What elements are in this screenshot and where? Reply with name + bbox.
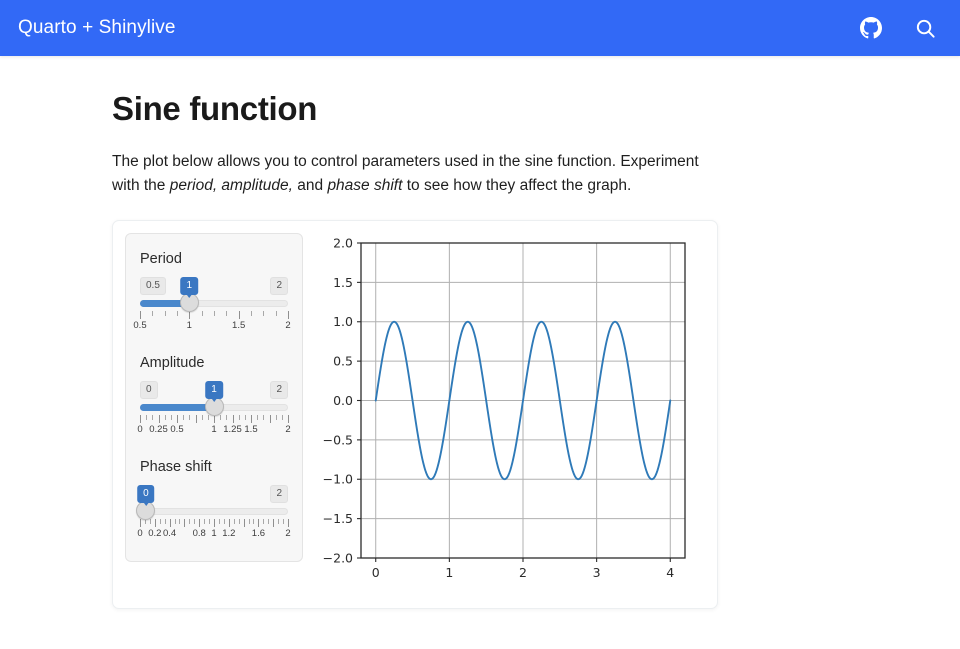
slider-tick-label: 1.5 [244, 424, 257, 435]
slider-tick [219, 519, 220, 524]
y-tick-label: 1.5 [333, 275, 353, 290]
slider-tick [258, 519, 259, 527]
slider-track-amplitude[interactable] [140, 400, 288, 414]
slider-tick [214, 415, 215, 423]
slider-tick [179, 519, 180, 524]
slider-max-badge-period: 2 [270, 277, 288, 295]
slider-tick [209, 519, 210, 524]
slider-max-badge-amplitude: 2 [270, 381, 288, 399]
slider-badges-period: 0.5 1 2 [140, 277, 288, 294]
slider-tick [159, 415, 160, 423]
slider-tick-labels-period: 0.511.52 [140, 320, 288, 333]
description-text-3: to see how they affect the graph. [402, 177, 631, 194]
slider-tick-label: 0.4 [163, 528, 176, 539]
slider-tick [184, 519, 185, 527]
slider-tick [239, 519, 240, 524]
slider-tick-label: 0.25 [149, 424, 168, 435]
slider-track-period[interactable] [140, 296, 288, 310]
slider-tick [202, 415, 203, 420]
slider-tick [140, 415, 141, 423]
slider-tick [160, 519, 161, 524]
y-tick-label: 2.0 [333, 235, 353, 250]
sine-plot: 01234−2.0−1.5−1.0−0.50.00.51.01.52.0 [303, 233, 699, 598]
slider-tick [257, 415, 258, 420]
navbar-tools [858, 15, 938, 41]
slider-value-badge-phase-shift: 0 [137, 485, 155, 503]
navbar: Quarto + Shinylive [0, 0, 960, 56]
slider-tick [177, 311, 178, 316]
slider-tick [273, 519, 274, 527]
page-description: The plot below allows you to control par… [112, 150, 704, 198]
slider-tick [263, 415, 264, 420]
slider-ticks-phase-shift [140, 519, 288, 527]
slider-ticks-amplitude [140, 415, 288, 423]
y-tick-label: 0.0 [333, 393, 353, 408]
slider-label-amplitude: Amplitude [140, 355, 288, 371]
slider-tick-label: 2 [285, 320, 290, 331]
slider-tick-labels-amplitude: 00.250.511.251.52 [140, 424, 288, 437]
slider-tick [152, 311, 153, 316]
slider-tick [165, 415, 166, 420]
slider-group-amplitude: Amplitude 0 1 2 00.250.511.251.52 [140, 355, 288, 437]
x-tick-label: 1 [445, 565, 453, 580]
slider-tick-label: 2 [285, 528, 290, 539]
github-icon[interactable] [858, 15, 884, 41]
y-tick-label: 1.0 [333, 314, 353, 329]
slider-tick [220, 415, 221, 420]
slider-ticks-period [140, 311, 288, 319]
slider-min-badge-period: 0.5 [140, 277, 166, 295]
slider-tick [140, 519, 141, 527]
slider-tick-label: 1.25 [223, 424, 242, 435]
slider-tick-label: 1.5 [232, 320, 245, 331]
slider-tick [214, 519, 215, 527]
x-tick-label: 0 [372, 565, 380, 580]
slider-tick [268, 519, 269, 524]
y-tick-label: −0.5 [323, 432, 353, 447]
slider-tick [208, 415, 209, 420]
slider-tick [288, 311, 289, 319]
slider-tick [226, 415, 227, 420]
x-tick-label: 3 [593, 565, 601, 580]
slider-tick [202, 311, 203, 316]
slider-tick [196, 415, 197, 423]
slider-tick [263, 519, 264, 524]
slider-tick [245, 415, 246, 420]
slider-tick [189, 519, 190, 524]
slider-tick [263, 311, 264, 316]
slider-tick-label: 0.2 [148, 528, 161, 539]
slider-tick [140, 311, 141, 319]
search-icon[interactable] [912, 15, 938, 41]
navbar-title: Quarto + Shinylive [18, 17, 176, 39]
slider-tick [165, 311, 166, 316]
slider-tick [234, 519, 235, 524]
slider-tick [214, 311, 215, 316]
slider-label-period: Period [140, 251, 288, 267]
slider-tick [189, 311, 190, 319]
slider-label-phase-shift: Phase shift [140, 459, 288, 475]
slider-tick [233, 415, 234, 423]
slider-tick-label: 1.2 [222, 528, 235, 539]
slider-tick-label: 0 [137, 424, 142, 435]
slider-tick [170, 519, 171, 527]
slider-tick-label: 0.5 [133, 320, 146, 331]
slider-tick [224, 519, 225, 524]
slider-tick [165, 519, 166, 524]
slider-value-badge-amplitude: 1 [205, 381, 223, 399]
slider-tick [283, 519, 284, 524]
slider-group-period: Period 0.5 1 2 0.511.52 [140, 251, 288, 333]
slider-tick [239, 311, 240, 319]
slider-tick [229, 519, 230, 527]
slider-tick [249, 519, 250, 524]
description-emphasis-2: phase shift [327, 177, 402, 194]
slider-tick [152, 415, 153, 420]
slider-tick [183, 415, 184, 420]
sidebar-panel: Period 0.5 1 2 0.511.52 Amplitude 0 [125, 233, 303, 562]
main-content: Sine function The plot below allows you … [0, 56, 960, 609]
slider-tick [204, 519, 205, 524]
slider-value-badge-period: 1 [181, 277, 199, 295]
slider-tick [189, 415, 190, 420]
slider-tick-label: 0.8 [193, 528, 206, 539]
slider-tick [276, 311, 277, 316]
description-emphasis-1: period, amplitude, [170, 177, 293, 194]
slider-track-fill-amplitude [140, 404, 214, 411]
slider-tick [177, 415, 178, 423]
app-card: Period 0.5 1 2 0.511.52 Amplitude 0 [112, 220, 718, 609]
slider-tick [146, 415, 147, 420]
slider-tick [251, 311, 252, 316]
slider-tick-labels-phase-shift: 00.20.40.811.21.62 [140, 528, 288, 541]
slider-min-badge-amplitude: 0 [140, 381, 158, 399]
slider-tick [150, 519, 151, 524]
slider-tick-label: 1 [211, 528, 216, 539]
slider-tick [226, 311, 227, 316]
slider-tick [175, 519, 176, 524]
plot-area: 01234−2.0−1.5−1.0−0.50.00.51.01.52.0 [303, 233, 705, 596]
y-tick-label: −1.0 [323, 472, 353, 487]
slider-max-badge-phase-shift: 2 [270, 485, 288, 503]
slider-tick [278, 519, 279, 524]
slider-tick [171, 415, 172, 420]
slider-tick-label: 2 [285, 424, 290, 435]
x-tick-label: 4 [666, 565, 674, 580]
slider-tick [239, 415, 240, 420]
slider-tick-label: 1 [187, 320, 192, 331]
slider-tick [288, 519, 289, 527]
slider-tick-label: 1 [211, 424, 216, 435]
slider-tick [251, 415, 252, 423]
slider-tick [244, 519, 245, 527]
slider-tick [288, 415, 289, 423]
page-title: Sine function [112, 90, 960, 128]
slider-tick-label: 0 [137, 528, 142, 539]
slider-tick [199, 519, 200, 527]
slider-tick-label: 1.6 [252, 528, 265, 539]
y-tick-label: −2.0 [323, 550, 353, 565]
slider-badges-amplitude: 0 1 2 [140, 381, 288, 398]
slider-tick [276, 415, 277, 420]
slider-track-bg-phase-shift [140, 508, 288, 515]
slider-tick [282, 415, 283, 420]
slider-tick [155, 519, 156, 527]
slider-tick [194, 519, 195, 524]
description-text-2: and [293, 177, 327, 194]
y-tick-label: 0.5 [333, 354, 353, 369]
slider-track-phase-shift[interactable] [140, 504, 288, 518]
slider-tick [270, 415, 271, 423]
slider-badges-phase-shift: 0 2 [140, 485, 288, 502]
y-tick-label: −1.5 [323, 511, 353, 526]
slider-group-phase-shift: Phase shift 0 2 00.20.40.811.21.62 [140, 459, 288, 541]
x-tick-label: 2 [519, 565, 527, 580]
slider-tick [253, 519, 254, 524]
slider-tick-label: 0.5 [170, 424, 183, 435]
